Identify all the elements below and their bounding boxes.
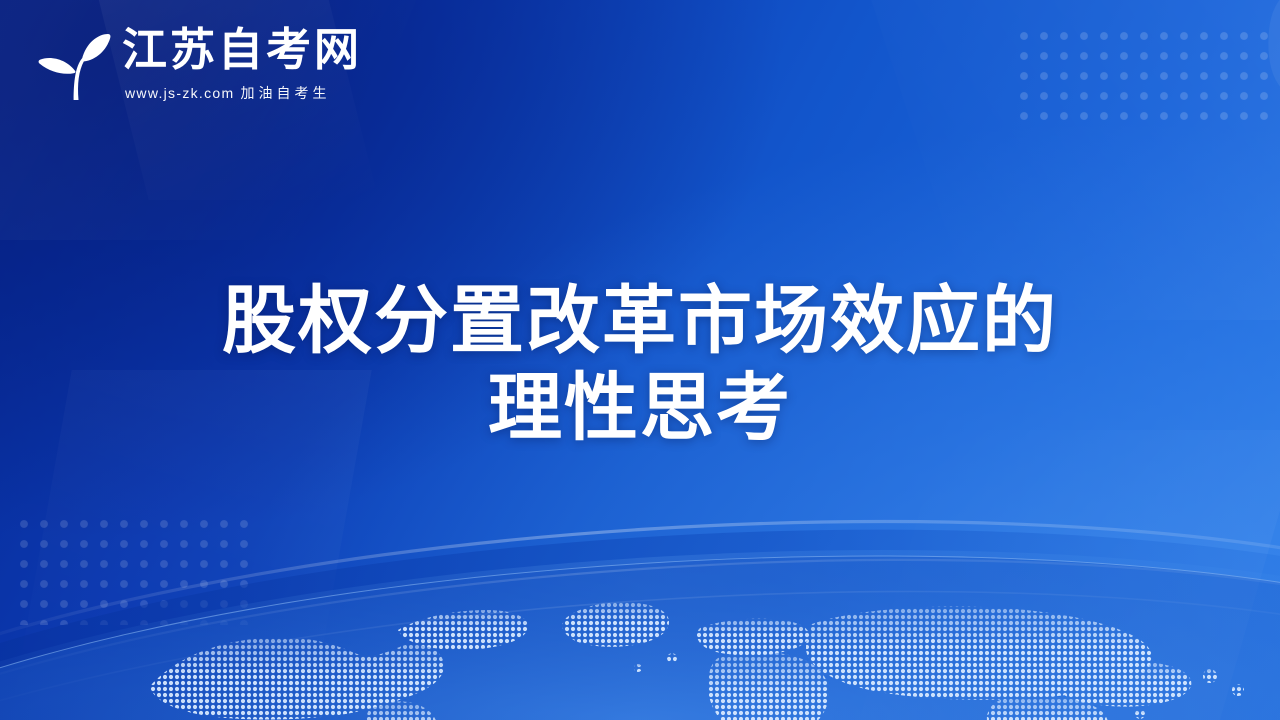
curved-swoosh-arcs [0,460,1280,720]
globe-icon [0,500,1280,720]
background-facet-lower-right [857,430,1280,720]
watermark-news-right: NEWS [1240,0,1280,110]
dot-grid-bottom-left [10,510,260,625]
page-title: 股权分置改革市场效应的 理性思考 [0,278,1280,451]
brand-tagline: www.js-zk.com加油自考生 [125,83,362,103]
background-facet-top-right [865,0,1280,320]
brand-url: www.js-zk.com [125,85,234,101]
banner-canvas: NEWS NEWS [0,0,1280,720]
sprout-icon [34,26,112,106]
brand-name: 江苏自考网 [122,24,362,76]
brand-slogan: 加油自考生 [240,85,330,101]
site-logo[interactable]: 江苏自考网 www.js-zk.com加油自考生 [34,24,362,106]
